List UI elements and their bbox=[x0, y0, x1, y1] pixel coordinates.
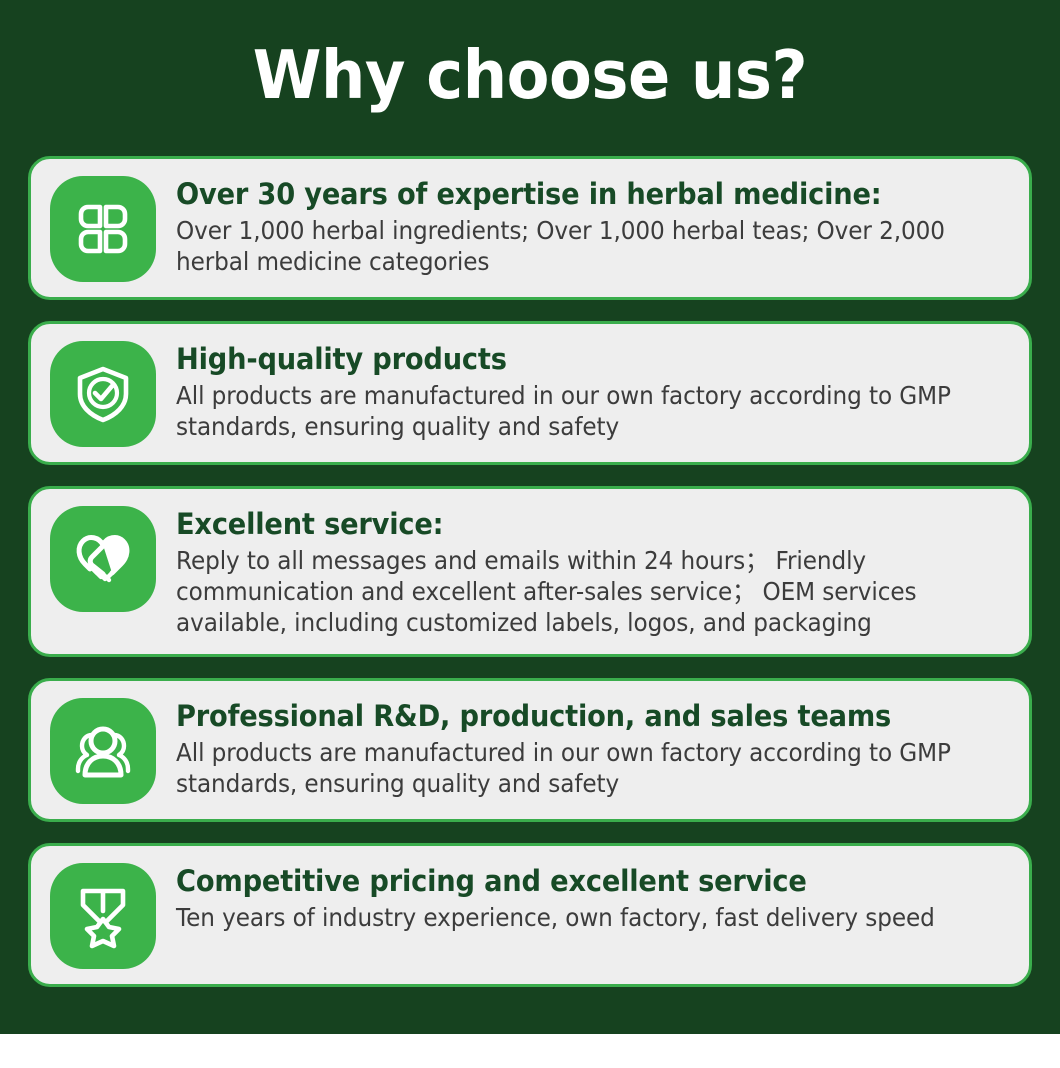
feature-card-title: High-quality products bbox=[176, 342, 961, 376]
handshake-heart-icon bbox=[50, 506, 156, 612]
feature-card-list: Over 30 years of expertise in herbal med… bbox=[28, 156, 1032, 987]
feature-card-description: Reply to all messages and emails within … bbox=[176, 545, 1011, 638]
feature-card-title: Excellent service: bbox=[176, 507, 961, 541]
feature-card-title: Over 30 years of expertise in herbal med… bbox=[176, 177, 961, 211]
page-title: Why choose us? bbox=[63, 0, 997, 109]
feature-card-description: Over 1,000 herbal ingredients; Over 1,00… bbox=[176, 215, 1011, 277]
bottom-white-strip bbox=[0, 1034, 1060, 1068]
why-choose-us-banner: Why choose us? Over 30 years of expertis… bbox=[0, 0, 1060, 1068]
feature-card-description: All products are manufactured in our own… bbox=[176, 380, 1011, 442]
four-petal-grid-icon bbox=[50, 176, 156, 282]
feature-card-body: Excellent service: Reply to all messages… bbox=[176, 504, 1011, 639]
feature-card: Excellent service: Reply to all messages… bbox=[28, 486, 1032, 657]
feature-card-title: Competitive pricing and excellent servic… bbox=[176, 864, 961, 898]
feature-card-description: Ten years of industry experience, own fa… bbox=[176, 902, 1011, 933]
feature-card-body: Professional R&D, production, and sales … bbox=[176, 696, 1011, 799]
feature-card: Competitive pricing and excellent servic… bbox=[28, 843, 1032, 987]
feature-card-body: High-quality products All products are m… bbox=[176, 339, 1011, 442]
feature-card-title: Professional R&D, production, and sales … bbox=[176, 699, 961, 733]
feature-card: Professional R&D, production, and sales … bbox=[28, 678, 1032, 822]
people-group-icon bbox=[50, 698, 156, 804]
medal-star-icon bbox=[50, 863, 156, 969]
feature-card-description: All products are manufactured in our own… bbox=[176, 737, 1011, 799]
feature-card: High-quality products All products are m… bbox=[28, 321, 1032, 465]
banner-green-area: Why choose us? Over 30 years of expertis… bbox=[0, 0, 1060, 1034]
feature-card-body: Over 30 years of expertise in herbal med… bbox=[176, 174, 1011, 277]
feature-card: Over 30 years of expertise in herbal med… bbox=[28, 156, 1032, 300]
shield-check-icon bbox=[50, 341, 156, 447]
feature-card-body: Competitive pricing and excellent servic… bbox=[176, 861, 1011, 933]
